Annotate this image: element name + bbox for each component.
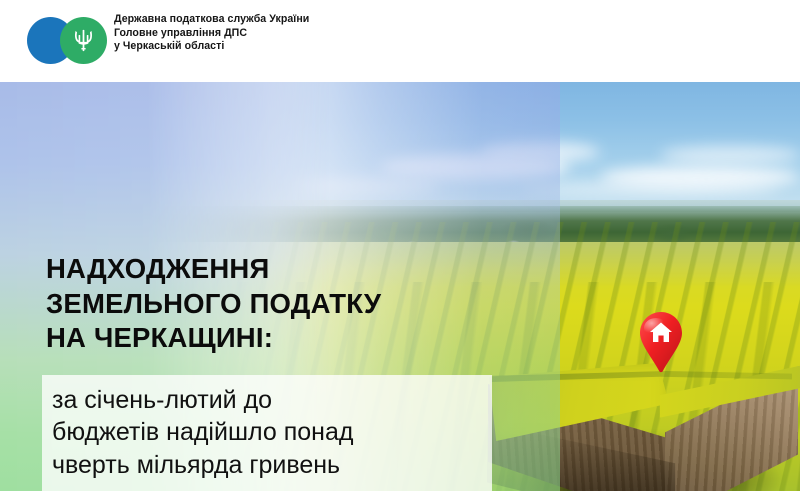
banner-header: Державна податкова служба України Головн… bbox=[0, 0, 800, 82]
ukrainian-trident-icon bbox=[73, 28, 94, 53]
headline-line-1: НАДХОДЖЕННЯ bbox=[46, 252, 516, 287]
agency-name-line-3: у Черкаській області bbox=[114, 40, 309, 54]
infographic-banner: Державна податкова служба України Головн… bbox=[0, 0, 800, 491]
map-pin-house-icon bbox=[639, 311, 683, 373]
cloud-shape bbox=[660, 146, 800, 164]
page-title: НАДХОДЖЕННЯ ЗЕМЕЛЬНОГО ПОДАТКУ НА ЧЕРКАЩ… bbox=[46, 252, 516, 356]
agency-name-line-1: Державна податкова служба України bbox=[114, 13, 309, 27]
agency-name-block: Державна податкова служба України Головн… bbox=[114, 13, 309, 54]
headline-line-3: НА ЧЕРКАЩИНІ: bbox=[46, 321, 516, 356]
agency-logo bbox=[27, 17, 109, 65]
subheadline-line-2: бюджетів надійшло понад bbox=[52, 416, 480, 448]
headline-line-2: ЗЕМЕЛЬНОГО ПОДАТКУ bbox=[46, 287, 516, 322]
subheadline-line-3: чверть мільярда гривень bbox=[52, 449, 480, 481]
logo-green-circle-icon bbox=[60, 17, 107, 64]
subheadline-box: за січень-лютий до бюджетів надійшло пон… bbox=[42, 375, 492, 491]
agency-name-line-2: Головне управління ДПС bbox=[114, 27, 309, 41]
subheadline-line-1: за січень-лютий до bbox=[52, 384, 480, 416]
hero-image: НАДХОДЖЕННЯ ЗЕМЕЛЬНОГО ПОДАТКУ НА ЧЕРКАЩ… bbox=[0, 82, 800, 491]
